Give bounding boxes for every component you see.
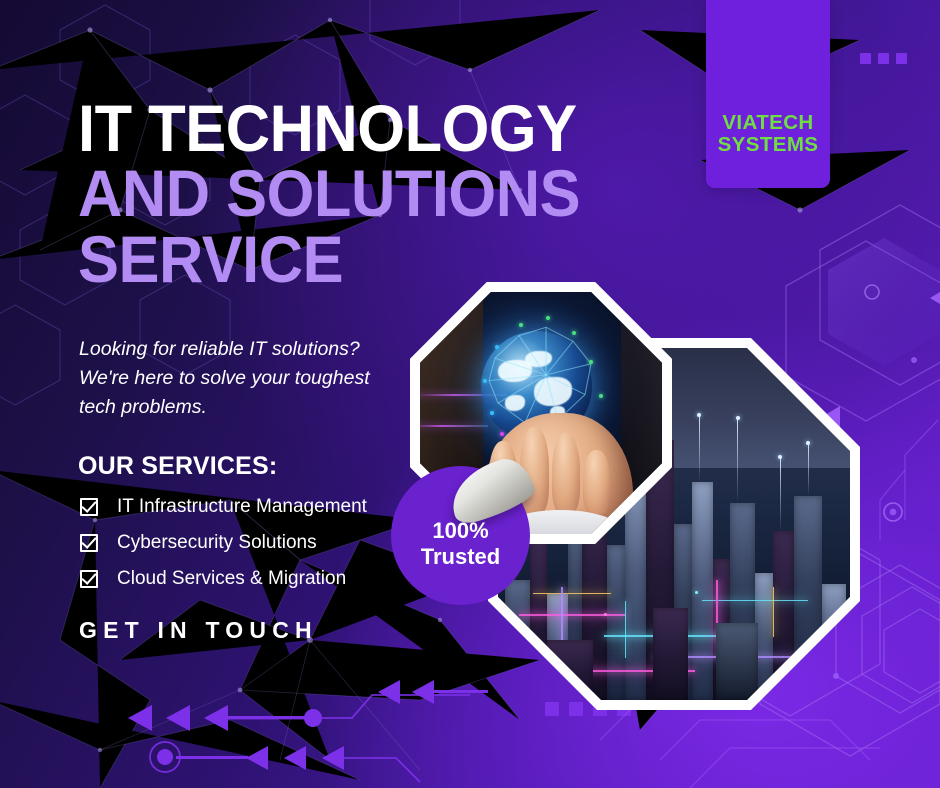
badge-text: 100% Trusted (391, 466, 530, 605)
brand-name-line1: VIATECH (722, 112, 813, 134)
checkbox-checked-icon (80, 534, 98, 552)
list-item: Cybersecurity Solutions (80, 529, 367, 556)
brand-logo-panel[interactable]: VIATECH SYSTEMS (706, 0, 830, 188)
list-item: IT Infrastructure Management (80, 493, 367, 520)
headline-line-1: IT TECHNOLOGY (78, 96, 636, 161)
status-badge: 100% Trusted (391, 466, 530, 605)
get-in-touch-button[interactable]: GET IN TOUCH (79, 617, 318, 644)
service-label: Cybersecurity Solutions (117, 532, 317, 554)
brand-name-line2: SYSTEMS (718, 134, 819, 156)
services-heading: OUR SERVICES: (78, 452, 277, 481)
checkbox-checked-icon (80, 498, 98, 516)
poster-canvas: VIATECH SYSTEMS IT TECHNOLOGY AND SOLUTI… (0, 0, 940, 788)
service-label: Cloud Services & Migration (117, 568, 346, 590)
page-title: IT TECHNOLOGY AND SOLUTIONS SERVICE (78, 96, 678, 292)
badge-line2: Trusted (421, 544, 500, 570)
services-list: IT Infrastructure Management Cybersecuri… (80, 493, 367, 592)
service-label: IT Infrastructure Management (117, 496, 367, 518)
checkbox-checked-icon (80, 570, 98, 588)
subheading-text: Looking for reliable IT solutions? We're… (79, 335, 409, 422)
headline-line-2: AND SOLUTIONS (78, 161, 636, 226)
badge-line1: 100% (432, 518, 488, 544)
list-item: Cloud Services & Migration (80, 565, 367, 592)
